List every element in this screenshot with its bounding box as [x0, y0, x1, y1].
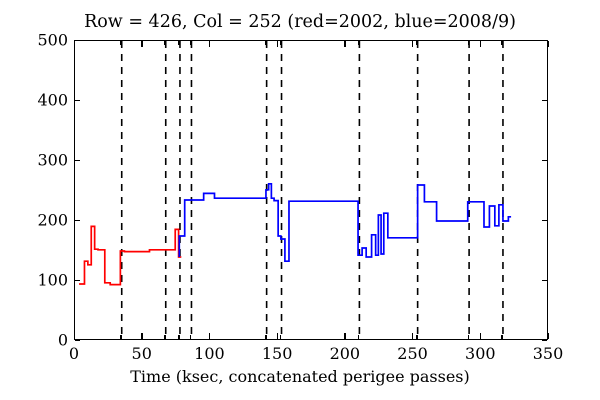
- x-tick-label: 250: [397, 344, 428, 363]
- x-tick-label: 350: [533, 344, 564, 363]
- x-tick-label: 300: [465, 344, 496, 363]
- y-tick-label: 300: [0, 151, 68, 170]
- x-tick-label: 50: [132, 344, 152, 363]
- page-title: Row = 426, Col = 252 (red=2002, blue=200…: [0, 12, 600, 32]
- y-tick-label: 400: [0, 91, 68, 110]
- y-tick-label: 100: [0, 271, 68, 290]
- x-tick-label: 0: [69, 344, 79, 363]
- x-tick-label: 100: [194, 344, 225, 363]
- data-series-line: [179, 184, 511, 261]
- perigee-pass-boundary-lines: [122, 41, 503, 340]
- y-tick-label: 200: [0, 211, 68, 230]
- data-series-group: [79, 184, 511, 285]
- x-tick-label: 150: [262, 344, 293, 363]
- x-axis-label: Time (ksec, concatenated perigee passes): [0, 367, 600, 386]
- y-tick-label: 500: [0, 31, 68, 50]
- chart-svg: [75, 41, 548, 340]
- chart-figure: Row = 426, Col = 252 (red=2002, blue=200…: [0, 0, 600, 400]
- x-tick-label: 200: [330, 344, 361, 363]
- y-tick-label: 0: [0, 331, 68, 350]
- plot-area: [74, 40, 548, 340]
